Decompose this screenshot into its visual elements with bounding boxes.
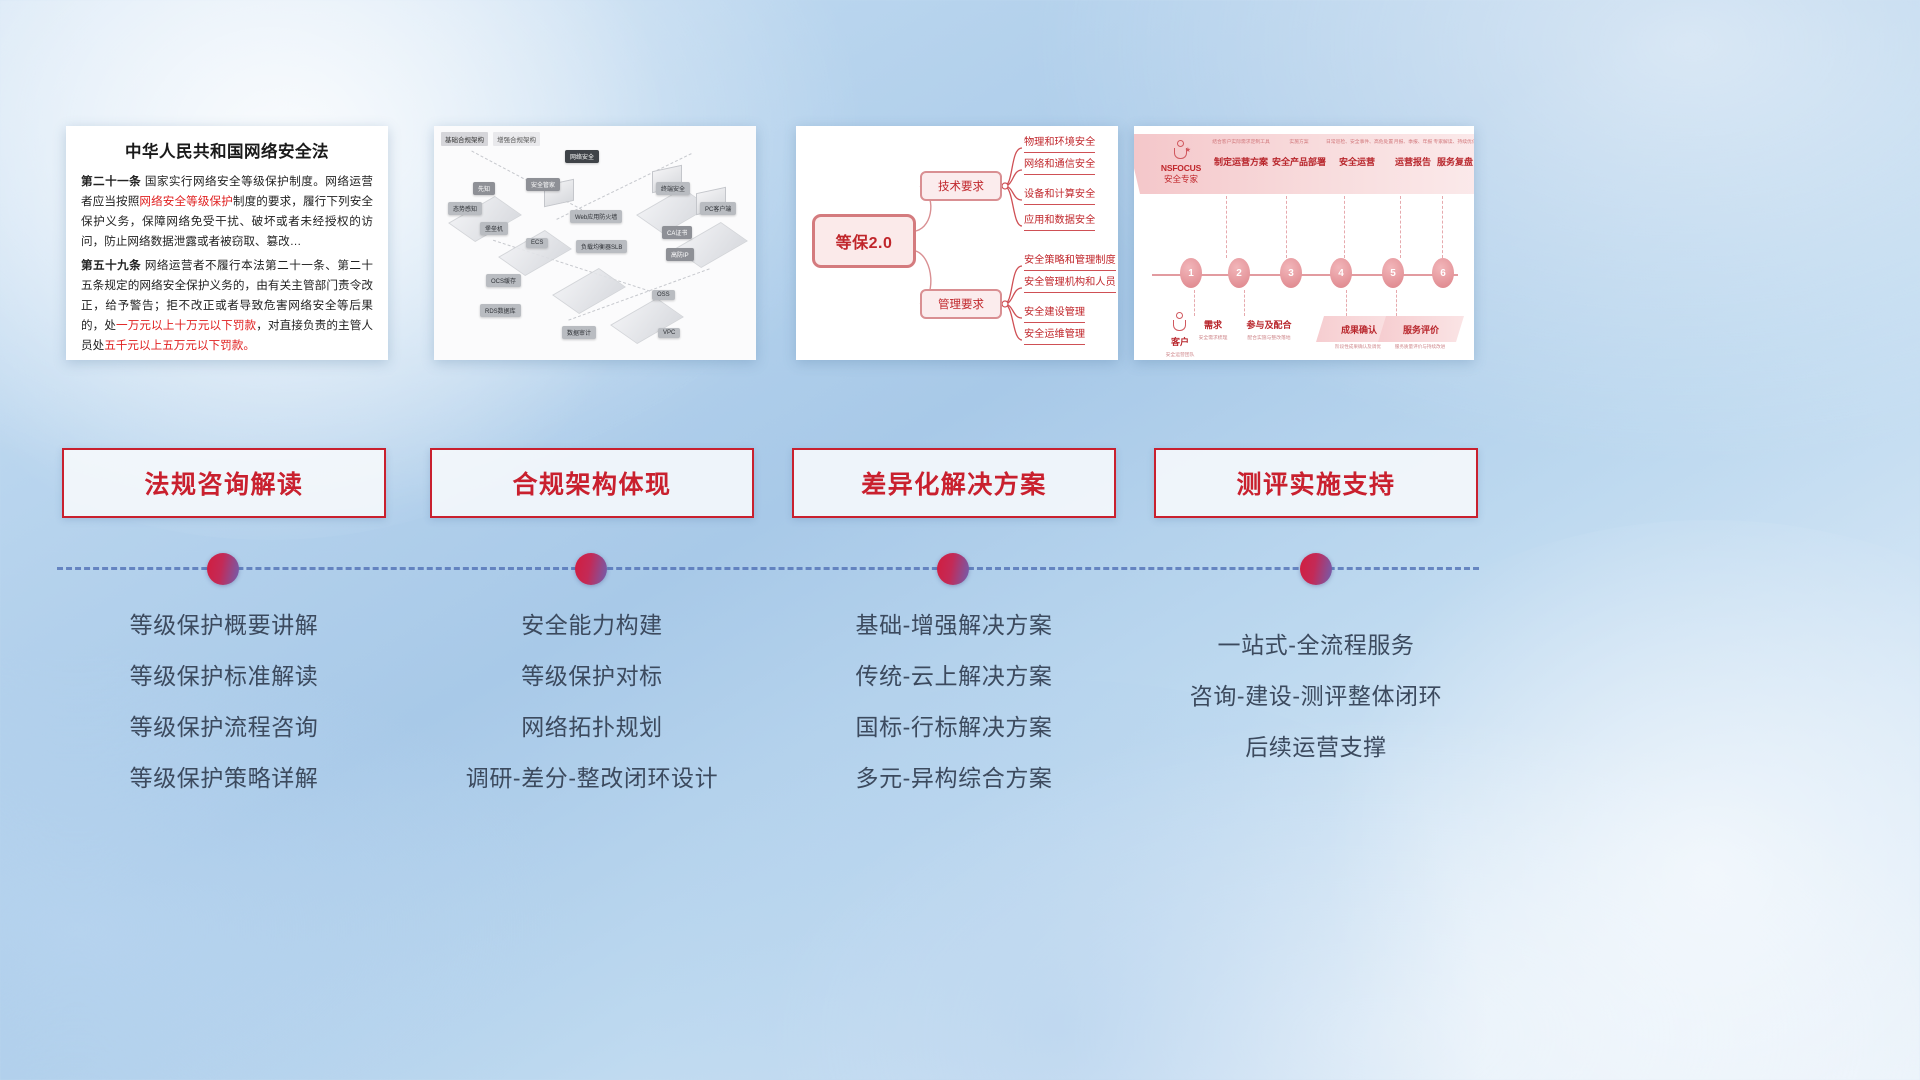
timeline-dot-1[interactable] bbox=[207, 553, 239, 585]
list-item: 等级保护标准解读 bbox=[62, 651, 386, 702]
step-caption-1: 结合客户实际需求定制工具 bbox=[1210, 140, 1272, 146]
timeline-dot-2[interactable] bbox=[575, 553, 607, 585]
arch-node-waf: Web应用防火墙 bbox=[570, 210, 622, 223]
roadmap-step-top-5: 专家解读、持续优化 服务复盘 bbox=[1424, 140, 1474, 168]
roadmap-step-top-2: 实施方案 安全产品部署 bbox=[1268, 140, 1330, 168]
arch-node-vpc: VPC bbox=[658, 328, 680, 338]
arch-node-data-audit: 数据审计 bbox=[562, 326, 596, 339]
article-59-highlight-a: 一万元以上十万元以下罚款 bbox=[116, 319, 256, 332]
title-box-differentiated-solution[interactable]: 差异化解决方案 bbox=[792, 448, 1116, 518]
timeline-dot-3[interactable] bbox=[937, 553, 969, 585]
list-item: 基础-增强解决方案 bbox=[792, 600, 1116, 651]
roadmap-step-top-1: 结合客户实际需求定制工具 制定运营方案 bbox=[1210, 140, 1272, 168]
roadmap-diagram: ★ NSFOCUS 安全专家 结合客户实际需求定制工具 制定运营方案 实施方案 … bbox=[1134, 126, 1474, 360]
step-caption-5: 专家解读、持续优化 bbox=[1424, 140, 1474, 146]
timeline-dot-4[interactable] bbox=[1300, 553, 1332, 585]
arch-node-rds: RDS数据库 bbox=[480, 304, 521, 317]
title-label-2: 合规架构体现 bbox=[512, 465, 671, 501]
card-compliance-architecture: 基础合规架构 增强合规架构 网络安全 安全管家 先知 态势感知 bbox=[434, 126, 756, 360]
list-item: 等级保护策略详解 bbox=[62, 753, 386, 804]
title-label-4: 测评实施支持 bbox=[1236, 465, 1395, 501]
roadmap-dot-1: 1 bbox=[1180, 258, 1202, 288]
list-item: 调研-差分-整改闭环设计 bbox=[430, 753, 754, 804]
list-item: 国标-行标解决方案 bbox=[792, 702, 1116, 753]
list-column-4: 一站式-全流程服务 咨询-建设-测评整体闭环 后续运营支撑 bbox=[1154, 620, 1478, 773]
mindmap-root-node: 等保2.0 bbox=[812, 214, 916, 268]
law-article-21: 第二十一条 国家实行网络安全等级保护制度。网络运营者应当按照网络安全等级保护制度… bbox=[81, 172, 373, 252]
article-59-label: 第五十九条 bbox=[81, 259, 141, 272]
title-box-row: 法规咨询解读 合规架构体现 差异化解决方案 测评实施支持 bbox=[0, 448, 1920, 518]
roadmap-dot-6: 6 bbox=[1432, 258, 1454, 288]
arch-node-pc-client: PC客户端 bbox=[700, 202, 736, 215]
arch-node-endpoint-security: 终端安全 bbox=[656, 182, 690, 195]
list-column-1: 等级保护概要讲解 等级保护标准解读 等级保护流程咨询 等级保护策略详解 bbox=[62, 600, 386, 804]
architecture-diagram: 基础合规架构 增强合规架构 网络安全 安全管家 先知 态势感知 bbox=[434, 126, 756, 360]
arch-node-anti-ddos-ip: 高防IP bbox=[666, 248, 694, 261]
article-21-highlight: 网络安全等级保护 bbox=[139, 195, 232, 208]
article-59-highlight-b: 五千元以上五万元以下罚款。 bbox=[104, 339, 255, 352]
step-label-5: 服务复盘 bbox=[1424, 155, 1474, 168]
mindmap: 等保2.0 技术要求 管理要求 物理和环境安全 网络和通信安全 设备和计算安全 … bbox=[796, 126, 1118, 360]
timeline bbox=[0, 545, 1920, 593]
mindmap-leaf-m3: 安全建设管理 bbox=[1024, 307, 1085, 323]
arch-node-ocs: OCS缓存 bbox=[486, 274, 521, 287]
mindmap-branch-management: 管理要求 bbox=[920, 289, 1002, 319]
list-item: 传统-云上解决方案 bbox=[792, 651, 1116, 702]
arch-node-ca-cert: CA证书 bbox=[662, 226, 692, 239]
list-item: 咨询-建设-测评整体闭环 bbox=[1154, 671, 1478, 722]
list-item: 一站式-全流程服务 bbox=[1154, 620, 1478, 671]
title-box-evaluation-support[interactable]: 测评实施支持 bbox=[1154, 448, 1478, 518]
architecture-tabs: 基础合规架构 增强合规架构 bbox=[441, 132, 540, 146]
mindmap-leaf-m2: 安全管理机构和人员 bbox=[1024, 277, 1116, 293]
roadmap-mid-2: 参与及配合 配合实施与整改落地 bbox=[1230, 318, 1308, 341]
list-item: 后续运营支撑 bbox=[1154, 722, 1478, 773]
arch-node-ecs: ECS bbox=[526, 238, 548, 248]
mindmap-leaf-t3: 设备和计算安全 bbox=[1024, 189, 1095, 205]
architecture-tab-enhanced: 增强合规架构 bbox=[493, 132, 540, 146]
expert-brand: NSFOCUS bbox=[1150, 163, 1212, 174]
expert-person-icon: ★ bbox=[1171, 140, 1191, 162]
roadmap-step-top-3: 日常巡检、安全事件、高危处置 安全运营 bbox=[1326, 140, 1388, 168]
expert-role: 安全专家 bbox=[1150, 174, 1212, 185]
list-item: 网络拓扑规划 bbox=[430, 702, 754, 753]
mindmap-leaf-t1: 物理和环境安全 bbox=[1024, 137, 1095, 153]
list-item: 安全能力构建 bbox=[430, 600, 754, 651]
roadmap-expert: ★ NSFOCUS 安全专家 bbox=[1150, 140, 1212, 184]
roadmap-tagsub-2: 服务质量评价与持续改进 bbox=[1372, 344, 1468, 350]
mid-sub-2: 配合实施与整改落地 bbox=[1230, 334, 1308, 341]
mindmap-leaf-t2: 网络和通信安全 bbox=[1024, 159, 1095, 175]
roadmap-dot-3: 3 bbox=[1280, 258, 1302, 288]
arch-node-xianzhi: 先知 bbox=[473, 182, 495, 195]
law-title: 中华人民共和国网络安全法 bbox=[81, 138, 373, 162]
step-label-2: 安全产品部署 bbox=[1268, 155, 1330, 168]
law-document: 中华人民共和国网络安全法 第二十一条 国家实行网络安全等级保护制度。网络运营者应… bbox=[66, 126, 388, 360]
mindmap-leaf-t4: 应用和数据安全 bbox=[1024, 215, 1095, 231]
timeline-dashed-line bbox=[57, 567, 1479, 570]
mindmap-leaf-m4: 安全运维管理 bbox=[1024, 329, 1085, 345]
list-item: 多元-异构综合方案 bbox=[792, 753, 1116, 804]
roadmap-dot-5: 5 bbox=[1382, 258, 1404, 288]
roadmap-dot-2: 2 bbox=[1228, 258, 1250, 288]
law-article-59: 第五十九条 网络运营者不履行本法第二十一条、第二十五条规定的网络安全保护义务的，… bbox=[81, 256, 373, 356]
list-column-3: 基础-增强解决方案 传统-云上解决方案 国标-行标解决方案 多元-异构综合方案 bbox=[792, 600, 1116, 804]
roadmap-tag-2: 服务评价 bbox=[1378, 316, 1464, 342]
card-cybersecurity-law: 中华人民共和国网络安全法 第二十一条 国家实行网络安全等级保护制度。网络运营者应… bbox=[66, 126, 388, 360]
arch-node-oss: OSS bbox=[652, 290, 675, 300]
customer-sub: 安全运营团队 bbox=[1148, 351, 1212, 358]
title-label-3: 差异化解决方案 bbox=[861, 465, 1047, 501]
step-label-3: 安全运营 bbox=[1326, 155, 1388, 168]
mid-name-2: 参与及配合 bbox=[1230, 318, 1308, 331]
mindmap-leaf-m1: 安全策略和管理制度 bbox=[1024, 255, 1116, 271]
mindmap-branch-technical: 技术要求 bbox=[920, 171, 1002, 201]
arch-node-slb: 负载均衡器SLB bbox=[576, 240, 627, 253]
card-mindmap-dengbao: 等保2.0 技术要求 管理要求 物理和环境安全 网络和通信安全 设备和计算安全 … bbox=[796, 126, 1118, 360]
list-item: 等级保护流程咨询 bbox=[62, 702, 386, 753]
architecture-tab-basic: 基础合规架构 bbox=[441, 132, 488, 146]
roadmap-dot-4: 4 bbox=[1330, 258, 1352, 288]
title-box-compliance-architecture[interactable]: 合规架构体现 bbox=[430, 448, 754, 518]
list-item: 等级保护概要讲解 bbox=[62, 600, 386, 651]
title-box-regulation-consulting[interactable]: 法规咨询解读 bbox=[62, 448, 386, 518]
slide-stage: 中华人民共和国网络安全法 第二十一条 国家实行网络安全等级保护制度。网络运营者应… bbox=[0, 0, 1920, 1080]
arch-node-network-security: 网络安全 bbox=[565, 150, 599, 163]
step-caption-2: 实施方案 bbox=[1268, 140, 1330, 146]
list-column-2: 安全能力构建 等级保护对标 网络拓扑规划 调研-差分-整改闭环设计 bbox=[430, 600, 754, 804]
step-caption-3: 日常巡检、安全事件、高危处置 bbox=[1326, 140, 1388, 146]
card-service-roadmap: ★ NSFOCUS 安全专家 结合客户实际需求定制工具 制定运营方案 实施方案 … bbox=[1134, 126, 1474, 360]
list-item: 等级保护对标 bbox=[430, 651, 754, 702]
step-label-1: 制定运营方案 bbox=[1210, 155, 1272, 168]
article-21-label: 第二十一条 bbox=[81, 175, 141, 188]
title-label-1: 法规咨询解读 bbox=[144, 465, 303, 501]
arch-node-bastion: 堡垒机 bbox=[480, 222, 508, 235]
arch-node-situation-awareness: 态势感知 bbox=[448, 202, 482, 215]
arch-node-security-butler: 安全管家 bbox=[526, 178, 560, 191]
image-card-row: 中华人民共和国网络安全法 第二十一条 国家实行网络安全等级保护制度。网络运营者应… bbox=[0, 126, 1920, 362]
